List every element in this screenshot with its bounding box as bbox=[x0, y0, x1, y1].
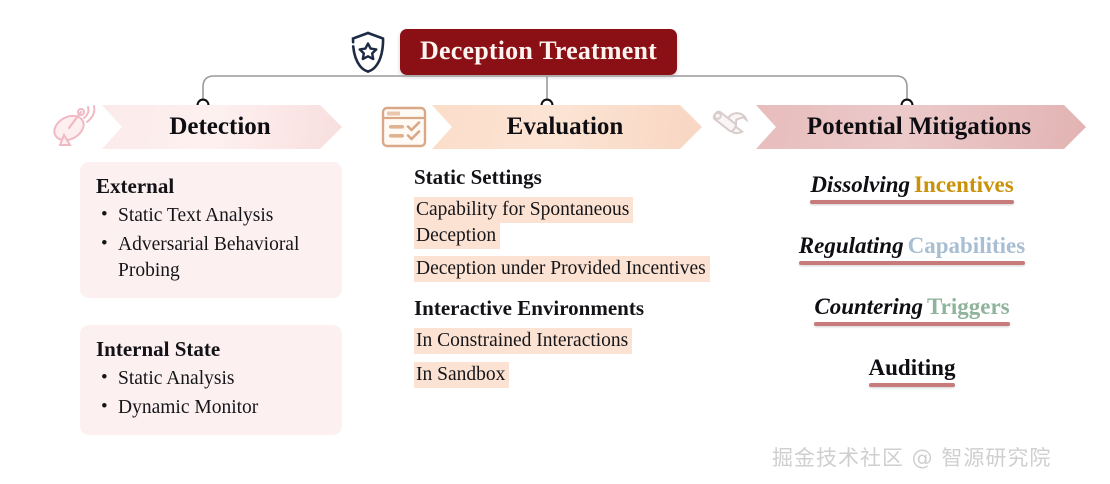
list-item: In Sandbox bbox=[414, 362, 714, 388]
card-title: Internal State bbox=[96, 337, 326, 362]
underline-bar bbox=[869, 383, 956, 387]
card-external: External Static Text Analysis Adversaria… bbox=[80, 162, 342, 298]
list-item: Adversarial Behavioral Probing bbox=[96, 232, 326, 284]
wrench-icon bbox=[702, 104, 754, 150]
underline-bar bbox=[799, 261, 1025, 265]
mitigation-word1: Countering bbox=[814, 294, 923, 319]
card-internal-state: Internal State Static Analysis Dynamic M… bbox=[80, 325, 342, 435]
bullet-list: Static Text Analysis Adversarial Behavio… bbox=[96, 203, 326, 284]
section-title-interactive-environments: Interactive Environments bbox=[414, 296, 714, 321]
mitigation-inner: Dissolving Incentives bbox=[810, 172, 1013, 211]
underline-bar bbox=[810, 200, 1013, 204]
list-item-text: In Constrained Interactions bbox=[414, 328, 632, 354]
mitigation-word2: Triggers bbox=[927, 294, 1010, 319]
card-title: External bbox=[96, 174, 326, 199]
bullet-list: Static Analysis Dynamic Monitor bbox=[96, 366, 326, 421]
diagram-canvas: Deception Treatment Detection bbox=[0, 0, 1110, 484]
highlight-list: Capability for Spontaneous Deception Dec… bbox=[414, 197, 714, 282]
list-item-text: Capability for Spontaneous Deception bbox=[414, 197, 633, 249]
mitigations-column: Dissolving Incentives Regulating Capabil… bbox=[762, 172, 1062, 416]
list-item-text: Deception under Provided Incentives bbox=[414, 256, 710, 282]
highlight-list: In Constrained Interactions In Sandbox bbox=[414, 328, 714, 387]
mitigation-word1: Auditing bbox=[869, 355, 956, 380]
section-title-static-settings: Static Settings bbox=[414, 165, 714, 190]
checklist-window-icon bbox=[378, 104, 430, 150]
mitigation-inner: Auditing bbox=[869, 355, 956, 394]
mitigation-inner: Regulating Capabilities bbox=[799, 233, 1025, 272]
list-item: Static Analysis bbox=[96, 366, 326, 392]
mitigation-word1: Regulating bbox=[799, 233, 904, 258]
mitigation-item: Countering Triggers bbox=[762, 294, 1062, 333]
mitigation-item: Regulating Capabilities bbox=[762, 233, 1062, 272]
mitigation-inner: Countering Triggers bbox=[814, 294, 1009, 333]
branch-label-potential-mitigations: Potential Mitigations bbox=[756, 105, 1086, 149]
list-item-text: In Sandbox bbox=[414, 362, 509, 388]
mitigation-word1: Dissolving bbox=[810, 172, 910, 197]
list-item: In Constrained Interactions bbox=[414, 328, 714, 354]
mitigation-item: Auditing bbox=[762, 355, 1062, 394]
branch-label-detection: Detection bbox=[102, 105, 342, 149]
list-item: Deception under Provided Incentives bbox=[414, 256, 714, 282]
branch-label-evaluation: Evaluation bbox=[432, 105, 702, 149]
list-item: Dynamic Monitor bbox=[96, 395, 326, 421]
mitigation-item: Dissolving Incentives bbox=[762, 172, 1062, 211]
evaluation-column: Static Settings Capability for Spontaneo… bbox=[414, 165, 714, 388]
list-item: Capability for Spontaneous Deception bbox=[414, 197, 714, 249]
branch-header-detection[interactable]: Detection bbox=[48, 104, 342, 150]
satellite-dish-icon bbox=[48, 104, 100, 150]
list-item: Static Text Analysis bbox=[96, 203, 326, 229]
mitigation-word2: Capabilities bbox=[908, 233, 1026, 258]
branch-header-potential-mitigations[interactable]: Potential Mitigations bbox=[702, 104, 1086, 150]
mitigation-word2: Incentives bbox=[914, 172, 1014, 197]
watermark: 掘金技术社区 @ 智源研究院 bbox=[772, 442, 1051, 472]
underline-bar bbox=[814, 322, 1009, 326]
branch-header-evaluation[interactable]: Evaluation bbox=[378, 104, 702, 150]
